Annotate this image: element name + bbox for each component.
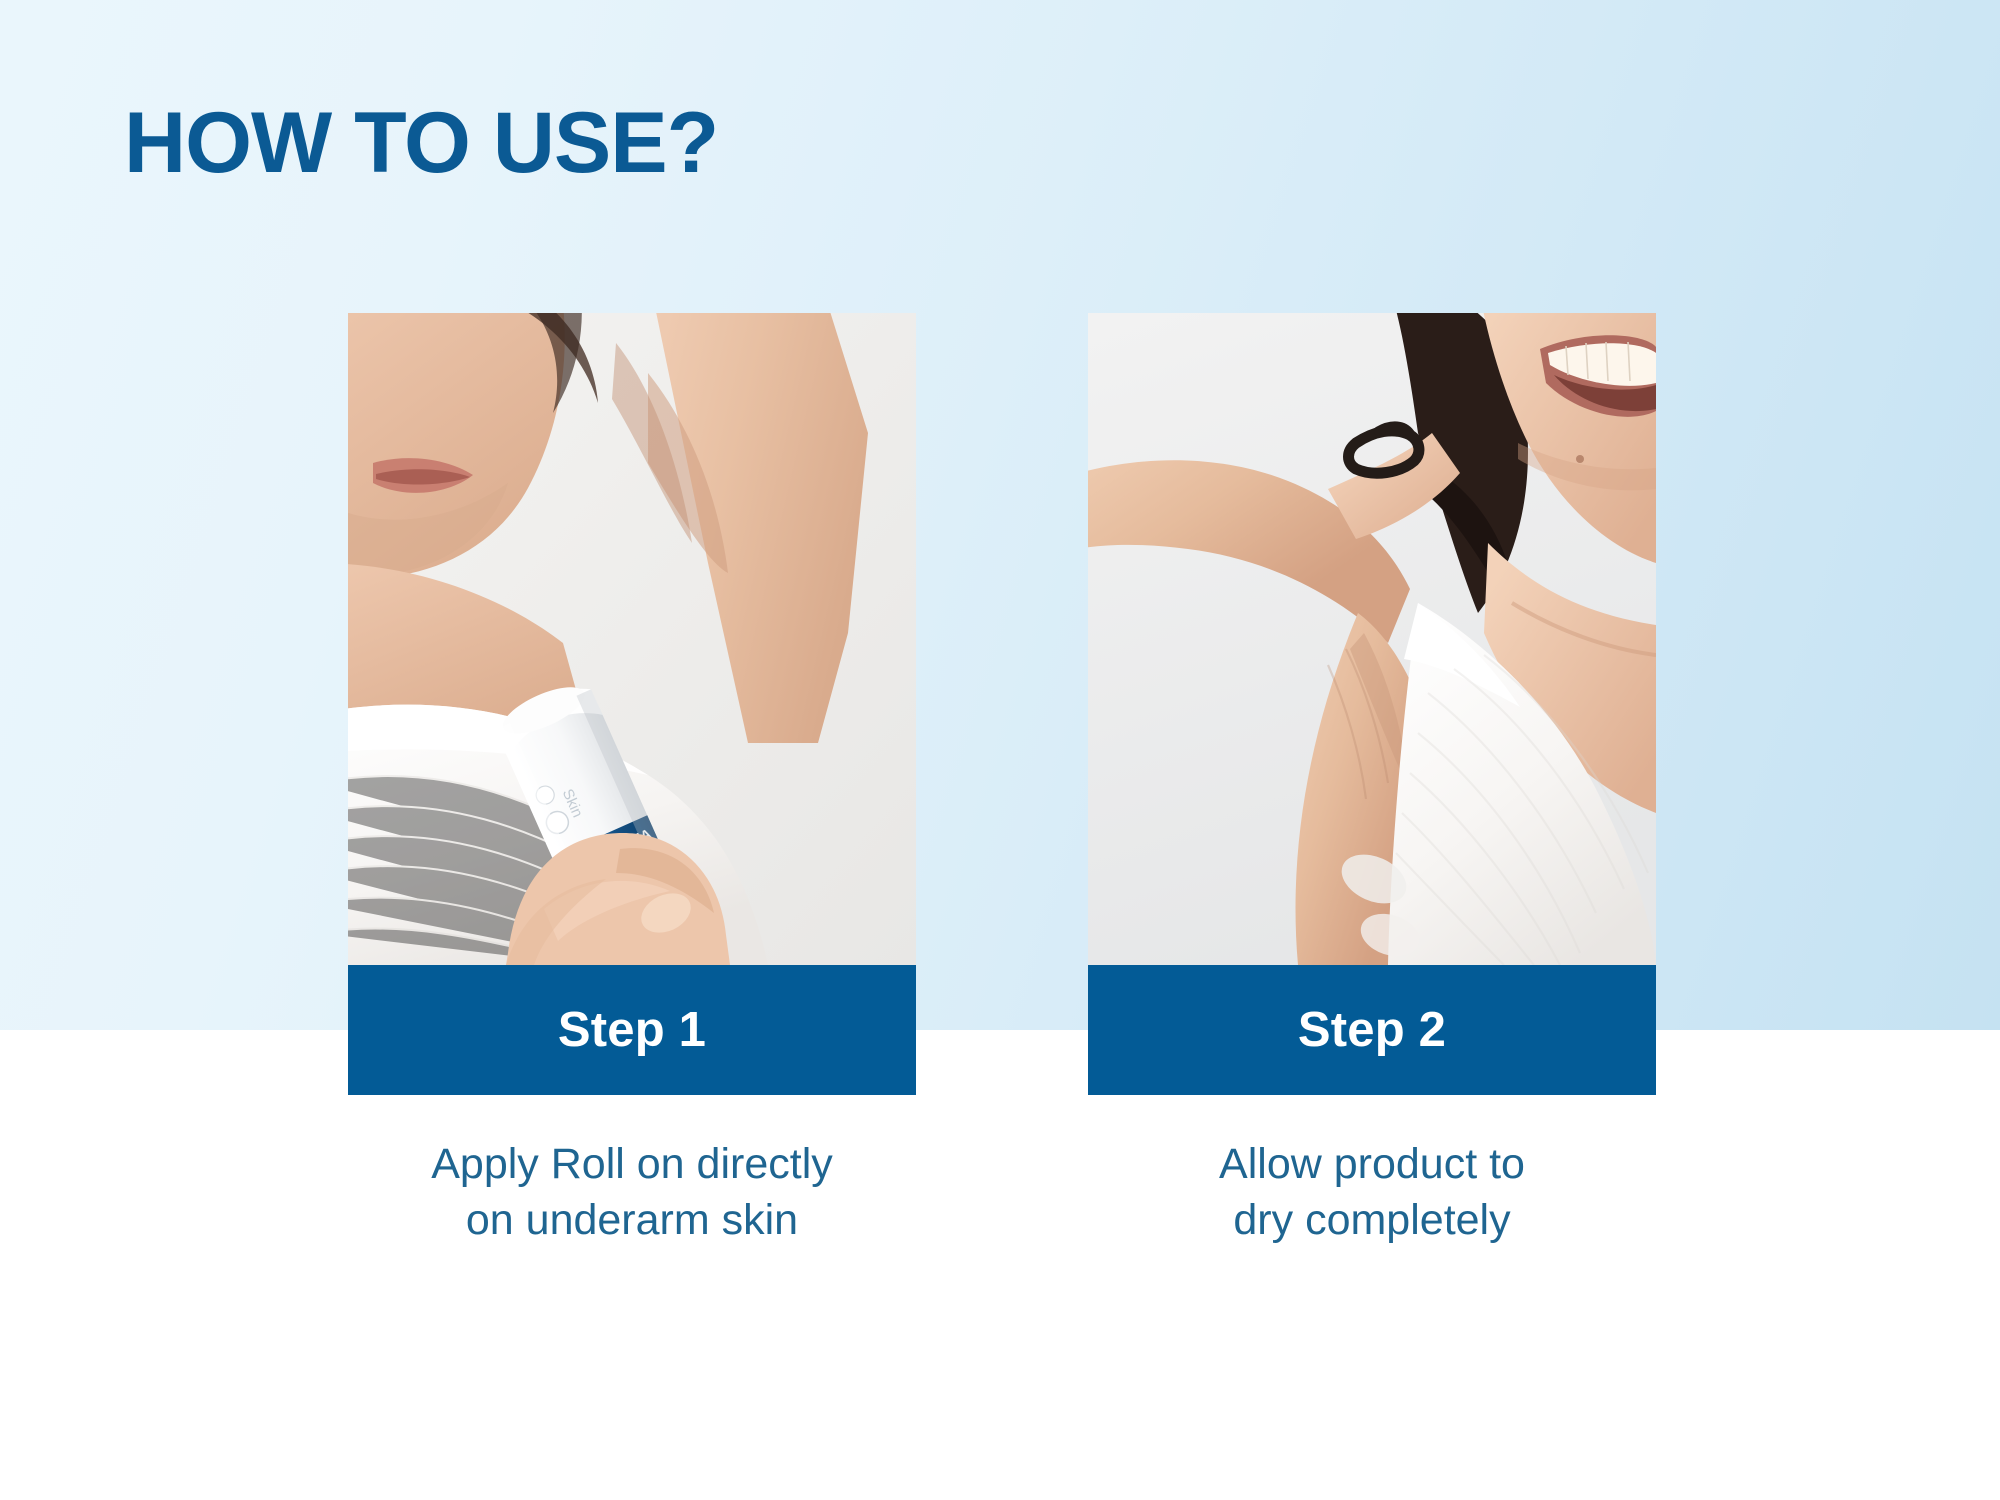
step-1-photo: 4% AHA BHA Underarm Roll Skin [348,313,916,965]
background-white-panel [0,1030,2000,1500]
page-title: HOW TO USE? [124,98,718,188]
step-card-1: 4% AHA BHA Underarm Roll Skin [348,313,916,1249]
step-2-banner: Step 2 [1088,965,1656,1095]
step-1-banner: Step 1 [348,965,916,1095]
slide-canvas: HOW TO USE? [0,0,2000,1500]
step-1-caption: Apply Roll on directly on underarm skin [348,1137,916,1249]
step-card-2: Step 2 Allow product to dry completely [1088,313,1656,1249]
step-2-label: Step 2 [1298,1002,1446,1058]
step-1-label: Step 1 [558,1002,706,1058]
step-2-caption: Allow product to dry completely [1088,1137,1656,1249]
step-2-photo [1088,313,1656,965]
